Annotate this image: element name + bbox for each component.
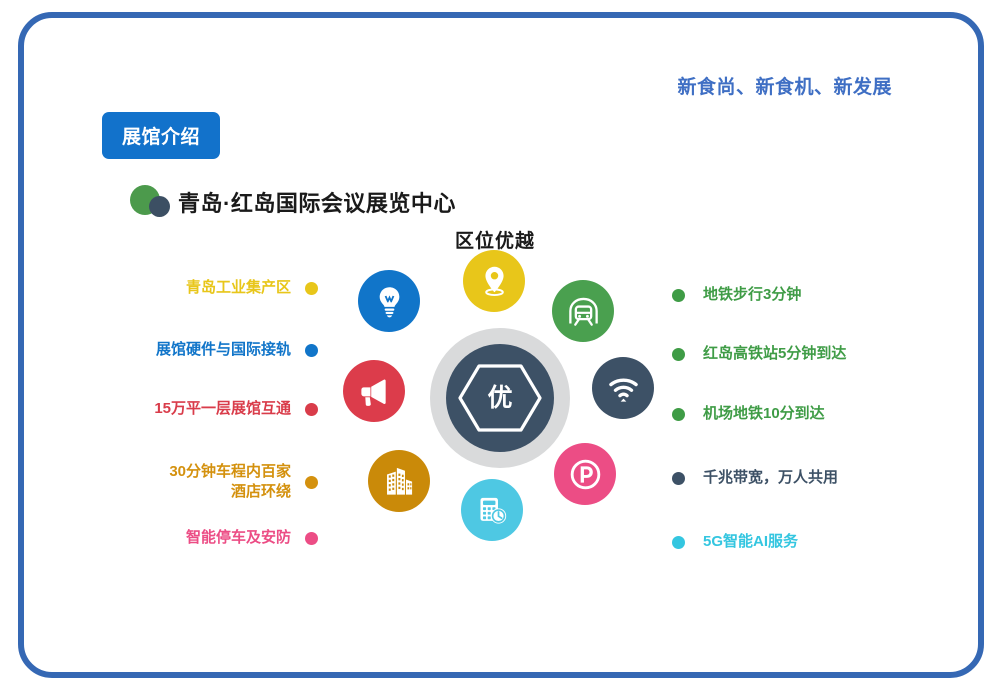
wifi-icon	[606, 371, 641, 406]
feature-label: 千兆带宽，万人共用	[703, 468, 838, 488]
feature-item-right-1[interactable]: 地铁步行3分钟	[672, 285, 801, 305]
lightbulb-icon	[372, 284, 407, 319]
feature-item-left-3[interactable]: 15万平一层展馆互通	[154, 399, 318, 419]
wheel-node-parking[interactable]	[554, 443, 616, 505]
logo-slate-circle	[149, 196, 170, 217]
feature-label: 30分钟车程内百家酒店环绕	[169, 462, 291, 502]
smart-calc-icon	[475, 493, 510, 528]
wheel-node-megaphone[interactable]	[343, 360, 405, 422]
feature-bullet-dot-icon	[305, 282, 318, 295]
feature-label: 机场地铁10分到达	[703, 404, 825, 424]
wheel-node-wifi[interactable]	[592, 357, 654, 419]
megaphone-icon	[357, 374, 392, 409]
feature-item-left-4[interactable]: 30分钟车程内百家酒店环绕	[169, 462, 318, 502]
feature-label: 智能停车及安防	[186, 528, 291, 548]
feature-label: 青岛工业集产区	[186, 278, 291, 298]
slide-canvas: 新食尚、新食机、新发展 展馆介绍 青岛·红岛国际会议展览中心 区位优越 青岛工业…	[0, 0, 1000, 696]
feature-item-left-2[interactable]: 展馆硬件与国际接轨	[156, 340, 318, 360]
feature-item-right-3[interactable]: 机场地铁10分到达	[672, 404, 825, 424]
hub-badge: 优	[446, 344, 554, 452]
slide-tagline: 新食尚、新食机、新发展	[677, 72, 892, 99]
hotel-building-icon	[382, 464, 417, 499]
feature-bullet-dot-icon	[672, 408, 685, 421]
feature-bullet-dot-icon	[305, 344, 318, 357]
feature-label: 红岛高铁站5分钟到达	[703, 344, 846, 364]
feature-bullet-dot-icon	[672, 536, 685, 549]
feature-label: 5G智能AI服务	[703, 532, 798, 552]
feature-bullet-dot-icon	[672, 472, 685, 485]
feature-label: 地铁步行3分钟	[703, 285, 801, 305]
hub-label: 优	[487, 386, 512, 411]
section-badge: 展馆介绍	[102, 112, 220, 159]
wheel-node-metro-train[interactable]	[552, 280, 614, 342]
feature-label: 展馆硬件与国际接轨	[156, 340, 291, 360]
wheel-node-smart-calc[interactable]	[461, 479, 523, 541]
venue-logo-icon	[130, 185, 178, 219]
hub-hexagon: 优	[457, 362, 543, 434]
feature-item-right-4[interactable]: 千兆带宽，万人共用	[672, 468, 838, 488]
feature-item-right-5[interactable]: 5G智能AI服务	[672, 532, 798, 552]
feature-item-left-5[interactable]: 智能停车及安防	[186, 528, 318, 548]
section-badge-label: 展馆介绍	[122, 122, 200, 149]
wheel-node-lightbulb[interactable]	[358, 270, 420, 332]
feature-bullet-dot-icon	[305, 403, 318, 416]
feature-item-left-1[interactable]: 青岛工业集产区	[186, 278, 318, 298]
feature-bullet-dot-icon	[305, 532, 318, 545]
benefits-wheel: 优	[330, 250, 670, 560]
section-subheading: 区位优越	[455, 226, 535, 253]
location-pin-icon	[477, 264, 512, 299]
feature-bullet-dot-icon	[305, 476, 318, 489]
metro-train-icon	[566, 294, 601, 329]
feature-bullet-dot-icon	[672, 289, 685, 302]
feature-label: 15万平一层展馆互通	[154, 399, 291, 419]
parking-icon	[568, 457, 603, 492]
wheel-node-location-pin[interactable]	[463, 250, 525, 312]
wheel-node-hotel-building[interactable]	[368, 450, 430, 512]
venue-title-row: 青岛·红岛国际会议展览中心	[130, 183, 456, 221]
feature-bullet-dot-icon	[672, 348, 685, 361]
venue-title: 青岛·红岛国际会议展览中心	[178, 186, 456, 218]
feature-item-right-2[interactable]: 红岛高铁站5分钟到达	[672, 344, 846, 364]
